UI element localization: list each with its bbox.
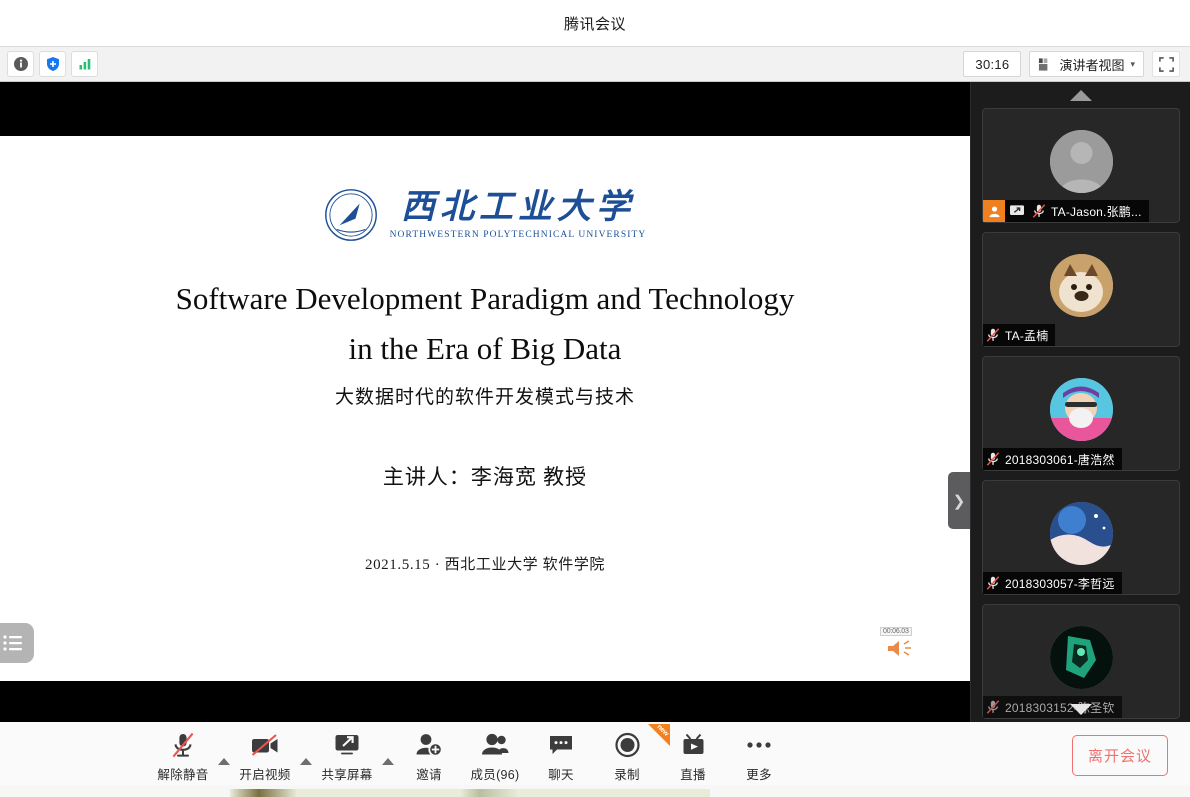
- mic-muted-badge: [983, 448, 1003, 470]
- security-button[interactable]: [39, 51, 66, 77]
- audio-clip-duration: 00:06.03: [880, 627, 912, 636]
- mic-muted-icon: [170, 730, 196, 760]
- more-label: 更多: [746, 764, 772, 783]
- avatar: [1050, 254, 1113, 317]
- slide-subtitle: 大数据时代的软件开发模式与技术: [335, 382, 635, 409]
- share-screen-icon: [1009, 204, 1025, 218]
- toolbar-right-group: 30:16 演讲者视图 ▾: [963, 51, 1190, 77]
- slide-footer: 2021.5.15 · 西北工业大学 软件学院: [365, 553, 605, 574]
- more-button[interactable]: 更多: [726, 724, 792, 783]
- slide-title: Software Development Paradigm and Techno…: [176, 274, 795, 374]
- bottom-edge-image-sliver: [230, 789, 710, 797]
- signal-bars-icon: [77, 56, 93, 72]
- share-screen-icon: [332, 730, 362, 760]
- participant-name: 2018303061-唐浩然: [1005, 451, 1115, 468]
- unmute-label: 解除静音: [157, 764, 208, 783]
- meeting-window: 腾讯会议: [0, 0, 1190, 797]
- participant-tile[interactable]: TA-Jason.张鹏...: [982, 108, 1180, 223]
- live-broadcast-icon: [680, 730, 707, 760]
- photo-avatar: [1050, 502, 1113, 565]
- scroll-down-button[interactable]: [971, 696, 1190, 722]
- record-button[interactable]: new 录制: [594, 724, 660, 783]
- video-options-caret[interactable]: [300, 758, 312, 765]
- avatar: [1050, 626, 1113, 689]
- invite-button[interactable]: 邀请: [396, 724, 462, 783]
- screen-share-badge: [1007, 200, 1027, 222]
- meeting-timer: 30:16: [963, 51, 1021, 77]
- view-mode-selector[interactable]: 演讲者视图 ▾: [1029, 51, 1144, 77]
- participants-button[interactable]: 成员(96): [462, 724, 528, 783]
- participant-video-panel: TA-Jason.张鹏...: [970, 82, 1190, 722]
- chat-label: 聊天: [548, 764, 574, 783]
- mic-muted-icon: [1031, 203, 1047, 219]
- record-circle-icon: [614, 730, 641, 760]
- share-options-caret[interactable]: [382, 758, 394, 765]
- slide-list-toggle[interactable]: [0, 623, 34, 663]
- chevron-down-icon: ▾: [1130, 59, 1135, 70]
- triangle-up-icon: [1070, 90, 1092, 101]
- fullscreen-icon: [1158, 56, 1175, 73]
- participant-tiles: TA-Jason.张鹏...: [971, 108, 1190, 722]
- avatar: [1050, 130, 1113, 193]
- invite-label: 邀请: [416, 764, 442, 783]
- leave-meeting-button[interactable]: 离开会议: [1072, 735, 1168, 776]
- photo-avatar: [1050, 626, 1113, 689]
- slide-title-line1: Software Development Paradigm and Techno…: [176, 274, 795, 324]
- person-icon: [988, 205, 1001, 218]
- speaker-view-icon: [1038, 57, 1053, 72]
- participant-namebar: 2018303061-唐浩然: [983, 448, 1122, 470]
- participant-namebar: TA-孟楠: [983, 324, 1055, 346]
- avatar: [1050, 502, 1113, 565]
- cartoon-avatar: [1050, 378, 1113, 441]
- share-screen-button[interactable]: 共享屏幕: [314, 724, 380, 783]
- university-logo: 西北工业大学 NORTHWESTERN POLYTECHNICAL UNIVER…: [324, 188, 647, 242]
- toolbar-left-group: [0, 51, 98, 77]
- info-icon: [13, 56, 29, 72]
- fullscreen-button[interactable]: [1152, 51, 1180, 77]
- invite-person-icon: [415, 730, 443, 760]
- audio-clip-control[interactable]: 00:06.03: [882, 627, 922, 661]
- cat-photo-avatar: [1050, 254, 1113, 317]
- start-video-button[interactable]: 开启视频: [232, 724, 298, 783]
- avatar: [1050, 378, 1113, 441]
- start-video-label: 开启视频: [239, 764, 290, 783]
- mic-muted-badge: [1029, 200, 1049, 222]
- mic-muted-icon: [985, 327, 1001, 343]
- participants-label: 成员(96): [470, 764, 519, 783]
- presentation-slide: 西北工业大学 NORTHWESTERN POLYTECHNICAL UNIVER…: [0, 136, 970, 681]
- chat-button[interactable]: 聊天: [528, 724, 594, 783]
- slide-presenter: 主讲人：李海宽 教授: [383, 461, 587, 491]
- info-button[interactable]: [7, 51, 34, 77]
- participant-namebar: 2018303057-李哲远: [983, 572, 1122, 594]
- control-items: 解除静音 开启视频: [150, 724, 792, 783]
- view-mode-label: 演讲者视图: [1059, 55, 1124, 74]
- audio-options-caret[interactable]: [218, 758, 230, 765]
- live-button[interactable]: 直播: [660, 724, 726, 783]
- record-label: 录制: [614, 764, 640, 783]
- shared-screen-stage: 西北工业大学 NORTHWESTERN POLYTECHNICAL UNIVER…: [0, 82, 970, 722]
- list-icon: [2, 634, 24, 652]
- speaker-icon: [886, 639, 916, 659]
- slide-title-line2: in the Era of Big Data: [176, 324, 795, 374]
- mic-muted-badge: [983, 324, 1003, 346]
- mic-muted-badge: [983, 572, 1003, 594]
- university-name-en: NORTHWESTERN POLYTECHNICAL UNIVERSITY: [390, 230, 647, 240]
- live-label: 直播: [680, 764, 706, 783]
- scroll-up-button[interactable]: [971, 82, 1190, 108]
- mic-muted-icon: [985, 451, 1001, 467]
- participant-tile[interactable]: 2018303057-李哲远: [982, 480, 1180, 595]
- university-name-cn: 西北工业大学: [401, 191, 635, 225]
- participant-tile[interactable]: TA-孟楠: [982, 232, 1180, 347]
- collapse-panel-button[interactable]: ❯: [948, 472, 970, 529]
- meeting-control-bar: 解除静音 开启视频: [0, 722, 1190, 785]
- shield-plus-icon: [45, 56, 61, 72]
- share-screen-label: 共享屏幕: [321, 764, 372, 783]
- mic-muted-icon: [985, 575, 1001, 591]
- network-quality-button[interactable]: [71, 51, 98, 77]
- triangle-down-icon: [1070, 704, 1092, 715]
- participant-name: TA-孟楠: [1005, 327, 1048, 344]
- window-title-bar: 腾讯会议: [0, 0, 1190, 46]
- video-off-icon: [250, 730, 280, 760]
- app-title: 腾讯会议: [564, 13, 626, 34]
- university-logo-text: 西北工业大学 NORTHWESTERN POLYTECHNICAL UNIVER…: [390, 191, 647, 240]
- unmute-button[interactable]: 解除静音: [150, 724, 216, 783]
- participant-tile[interactable]: 2018303061-唐浩然: [982, 356, 1180, 471]
- meeting-toolbar: 30:16 演讲者视图 ▾: [0, 46, 1190, 82]
- participant-name: 2018303057-李哲远: [1005, 575, 1115, 592]
- participant-name: TA-Jason.张鹏...: [1051, 203, 1142, 220]
- host-badge: [983, 200, 1005, 222]
- nwpu-seal-icon: [324, 188, 378, 242]
- chat-bubble-icon: [548, 730, 574, 760]
- more-dots-icon: [745, 730, 773, 760]
- participant-namebar: TA-Jason.张鹏...: [983, 200, 1149, 222]
- default-person-icon: [1050, 130, 1113, 193]
- participants-icon: [480, 730, 510, 760]
